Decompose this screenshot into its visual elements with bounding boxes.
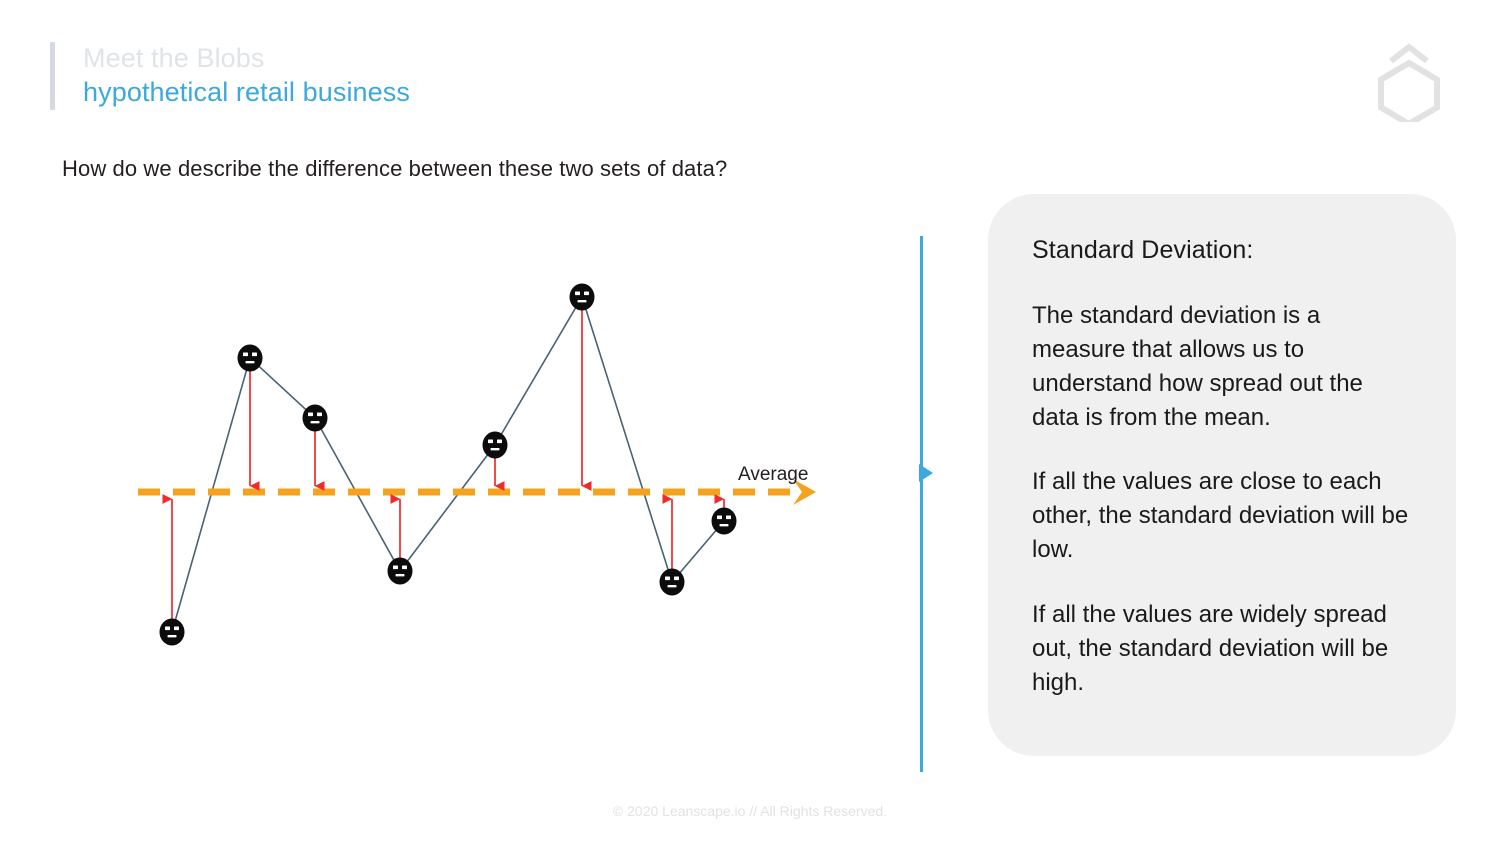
- average-line-label: Average: [738, 464, 808, 486]
- panel-paragraph: If all the values are widely spread out,…: [1032, 598, 1412, 700]
- play-triangle-right-icon: [919, 464, 933, 482]
- average-line: [138, 479, 816, 505]
- blob-markers: [160, 284, 737, 646]
- standard-deviation-panel: Standard Deviation: The standard deviati…: [988, 194, 1456, 756]
- panel-paragraph: The standard deviation is a measure that…: [1032, 299, 1412, 435]
- footer-copyright: © 2020 Leanscape.io // All Rights Reserv…: [0, 803, 1500, 819]
- blob-deviation-chart: Average: [0, 0, 900, 800]
- blob-face-marker: [388, 558, 413, 585]
- blob-face-marker: [570, 284, 595, 311]
- blob-face-marker: [238, 345, 263, 372]
- blob-face-marker: [160, 619, 185, 646]
- blob-face-marker: [660, 569, 685, 596]
- divider-line: [920, 236, 923, 772]
- panel-heading: Standard Deviation:: [1032, 236, 1412, 265]
- blob-face-marker: [483, 432, 508, 459]
- panel-paragraph: If all the values are close to each othe…: [1032, 465, 1412, 567]
- blob-face-marker: [712, 508, 737, 535]
- blob-face-marker: [303, 405, 328, 432]
- section-divider: [918, 236, 944, 776]
- hexagon-chevron-logo-icon: [1373, 42, 1445, 122]
